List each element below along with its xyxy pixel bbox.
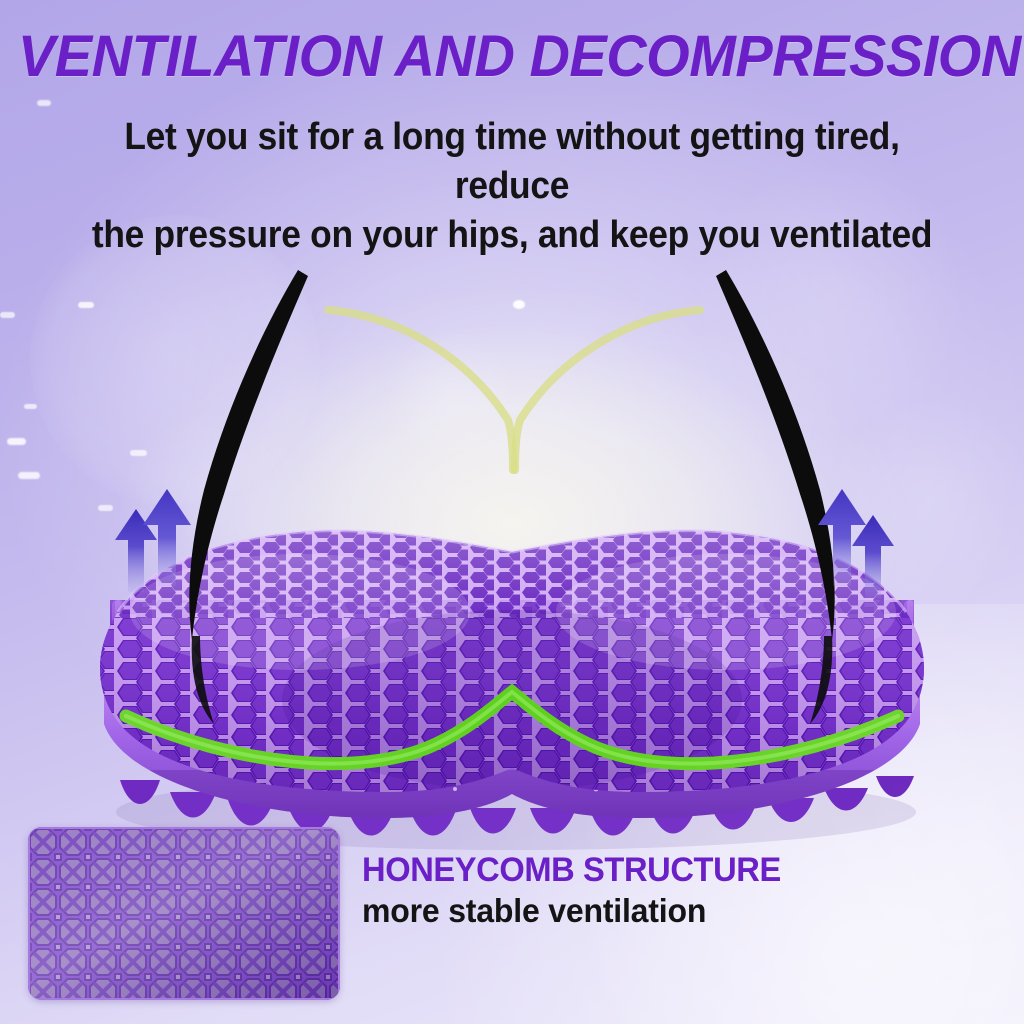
inset-caption-title: HONEYCOMB STRUCTURE bbox=[362, 852, 880, 889]
inset-caption-block: HONEYCOMB STRUCTURE more stable ventilat… bbox=[362, 852, 902, 930]
honeycomb-closeup-inset bbox=[28, 827, 340, 1000]
product-image-canvas: VENTILATION AND DECOMPRESSION Let you si… bbox=[0, 0, 1024, 1024]
inset-caption-subtitle: more stable ventilation bbox=[362, 893, 886, 929]
